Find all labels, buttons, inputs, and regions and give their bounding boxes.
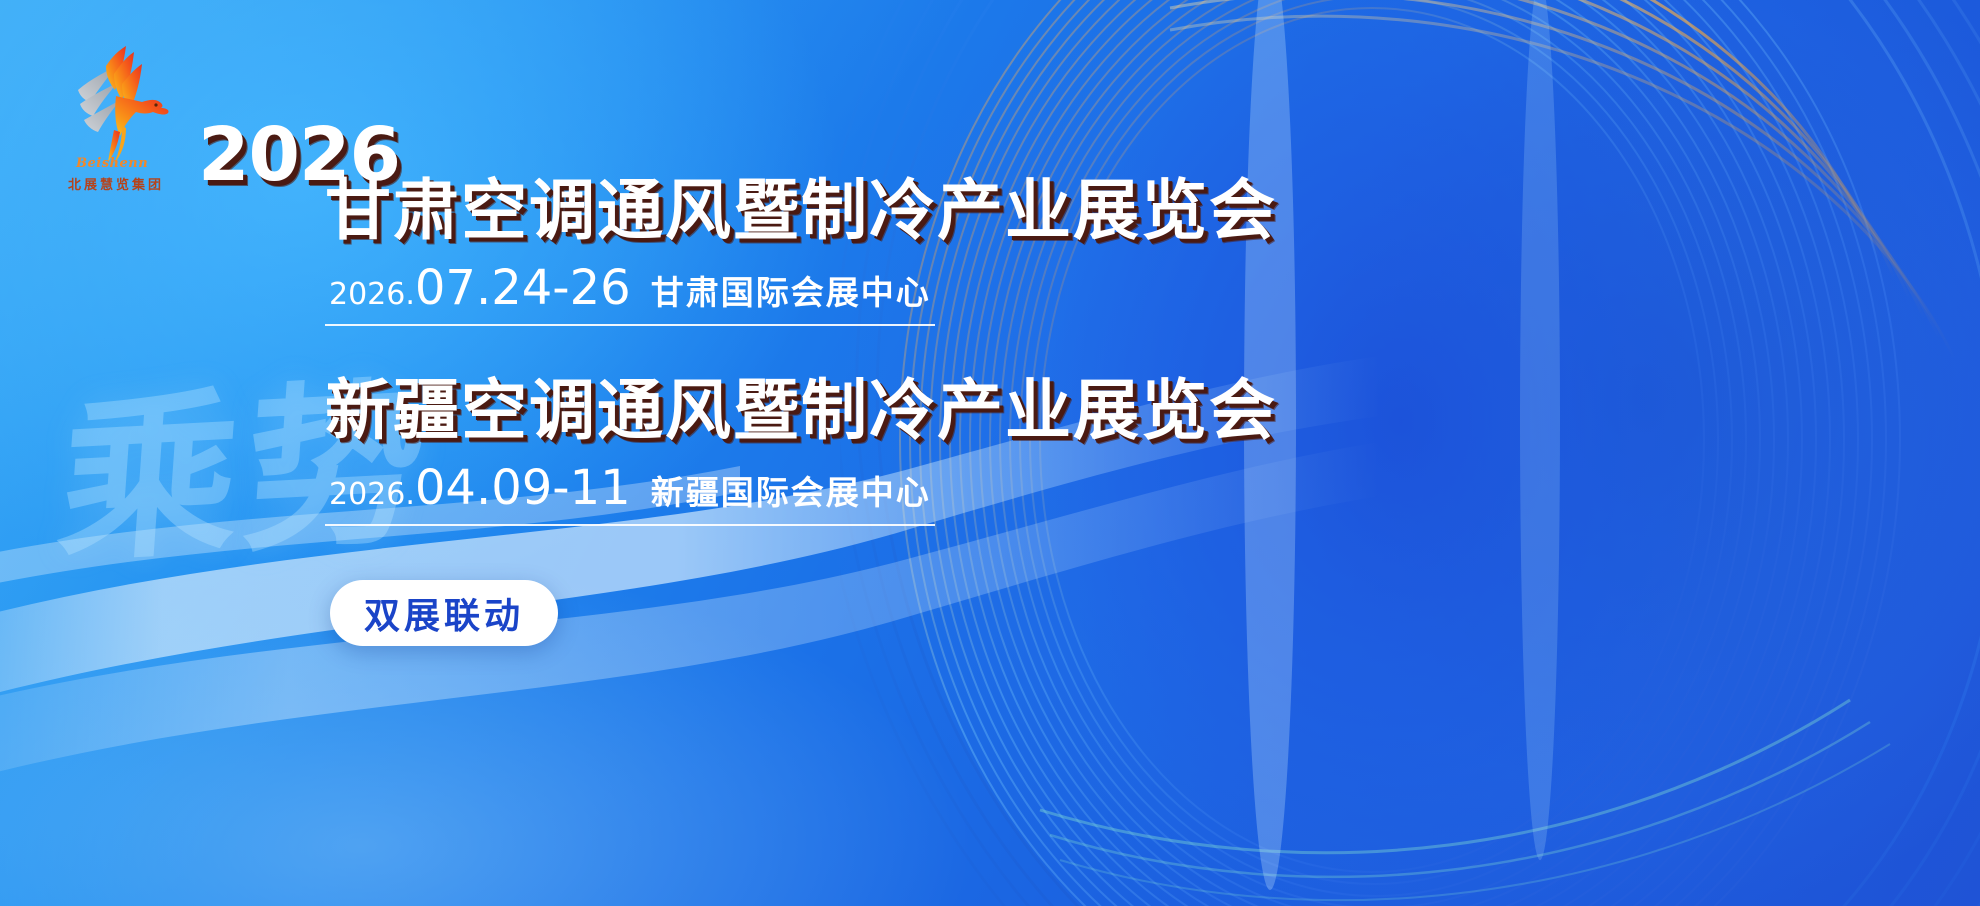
event-title: 甘肃空调通风暨制冷产业展览会 (325, 172, 1425, 250)
event-date: 04.09-11 (415, 464, 631, 512)
brand-logo-block: Beishenn 北展慧览集团 2026 (58, 44, 368, 194)
dual-expo-cta-button[interactable]: 双展联动 (330, 580, 558, 646)
event-year: 2026. (329, 477, 415, 512)
event-meta: 2026. 07.24-26 甘肃国际会展中心 (325, 258, 935, 326)
event-venue: 新疆国际会展中心 (651, 466, 931, 514)
event-title: 新疆空调通风暨制冷产业展览会 (325, 372, 1425, 450)
brand-name-cn: 北展慧览集团 (68, 174, 164, 193)
brand-name-en: Beishenn (76, 156, 148, 171)
event-date: 07.24-26 (415, 264, 631, 312)
event-gansu: 甘肃空调通风暨制冷产业展览会 2026. 07.24-26 甘肃国际会展中心 (325, 172, 1425, 326)
phoenix-bird-logo-icon (58, 44, 176, 164)
event-venue: 甘肃国际会展中心 (651, 266, 931, 314)
banner-content: 甘肃空调通风暨制冷产业展览会 2026. 07.24-26 甘肃国际会展中心 新… (325, 172, 1425, 646)
dual-expo-cta-label: 双展联动 (364, 587, 524, 639)
event-year: 2026. (329, 277, 415, 312)
event-xinjiang: 新疆空调通风暨制冷产业展览会 2026. 04.09-11 新疆国际会展中心 (325, 372, 1425, 526)
event-meta: 2026. 04.09-11 新疆国际会展中心 (325, 458, 935, 526)
exhibition-banner: 乘势 (0, 0, 1980, 906)
events-spacer (325, 338, 1425, 372)
